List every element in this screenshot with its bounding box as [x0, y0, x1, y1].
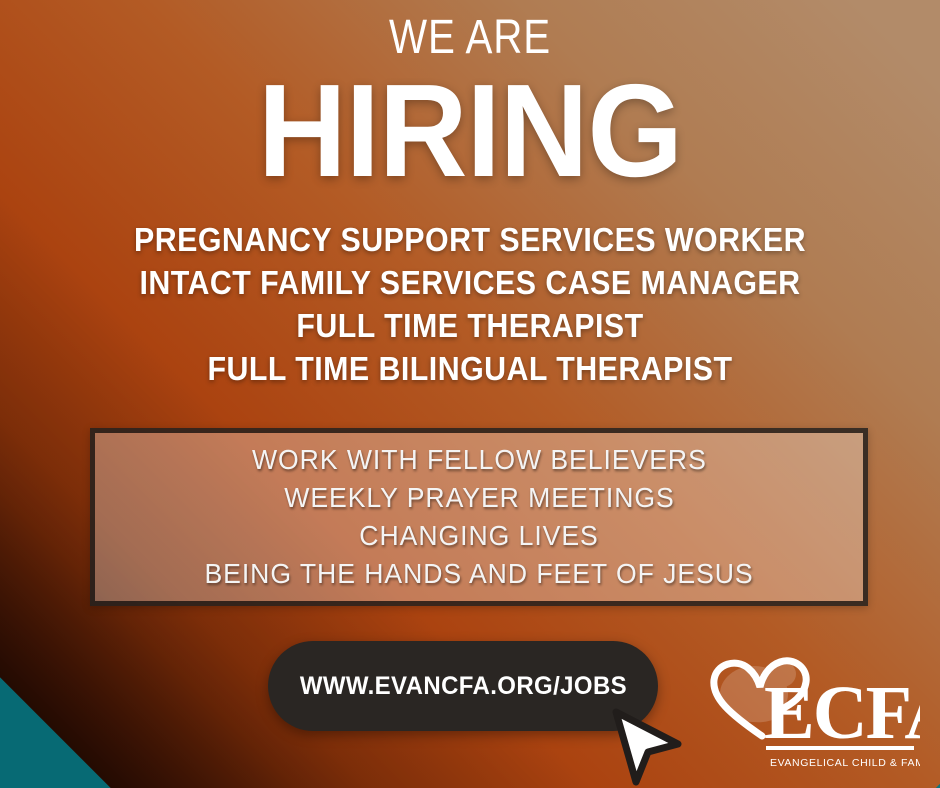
logo-divider — [766, 746, 914, 750]
benefits-box: WORK WITH FELLOW BELIEVERS WEEKLY PRAYER… — [90, 428, 868, 606]
benefit-item: WORK WITH FELLOW BELIEVERS — [252, 441, 707, 479]
jobs-url-button[interactable]: WWW.EVANCFA.ORG/JOBS — [268, 641, 658, 731]
cursor-arrow-icon — [604, 704, 688, 788]
ecfa-logo: ECFA EVANGELICAL CHILD & FAMILY AGENCY — [700, 648, 920, 773]
jobs-url-label: WWW.EVANCFA.ORG/JOBS — [299, 672, 626, 701]
job-opening-item: PREGNANCY SUPPORT SERVICES WORKER — [38, 218, 903, 261]
logo-acronym: ECFA — [764, 671, 920, 755]
job-opening-item: FULL TIME THERAPIST — [38, 304, 903, 347]
benefit-item: CHANGING LIVES — [359, 517, 598, 555]
svg-text:ECFA: ECFA — [764, 671, 920, 755]
headline: WE ARE HIRING — [0, 14, 940, 191]
job-opening-item: INTACT FAMILY SERVICES CASE MANAGER — [38, 261, 903, 304]
poster-content: WE ARE HIRING PREGNANCY SUPPORT SERVICES… — [0, 0, 940, 788]
benefit-item: WEEKLY PRAYER MEETINGS — [284, 479, 674, 517]
logo-tagline: EVANGELICAL CHILD & FAMILY AGENCY — [770, 757, 920, 769]
hiring-poster: WE ARE HIRING PREGNANCY SUPPORT SERVICES… — [0, 0, 940, 788]
job-openings-list: PREGNANCY SUPPORT SERVICES WORKER INTACT… — [0, 218, 940, 390]
headline-main: HIRING — [33, 70, 907, 191]
benefit-item: BEING THE HANDS AND FEET OF JESUS — [204, 555, 753, 593]
job-opening-item: FULL TIME BILINGUAL THERAPIST — [38, 347, 903, 390]
headline-eyebrow: WE ARE — [75, 14, 865, 62]
